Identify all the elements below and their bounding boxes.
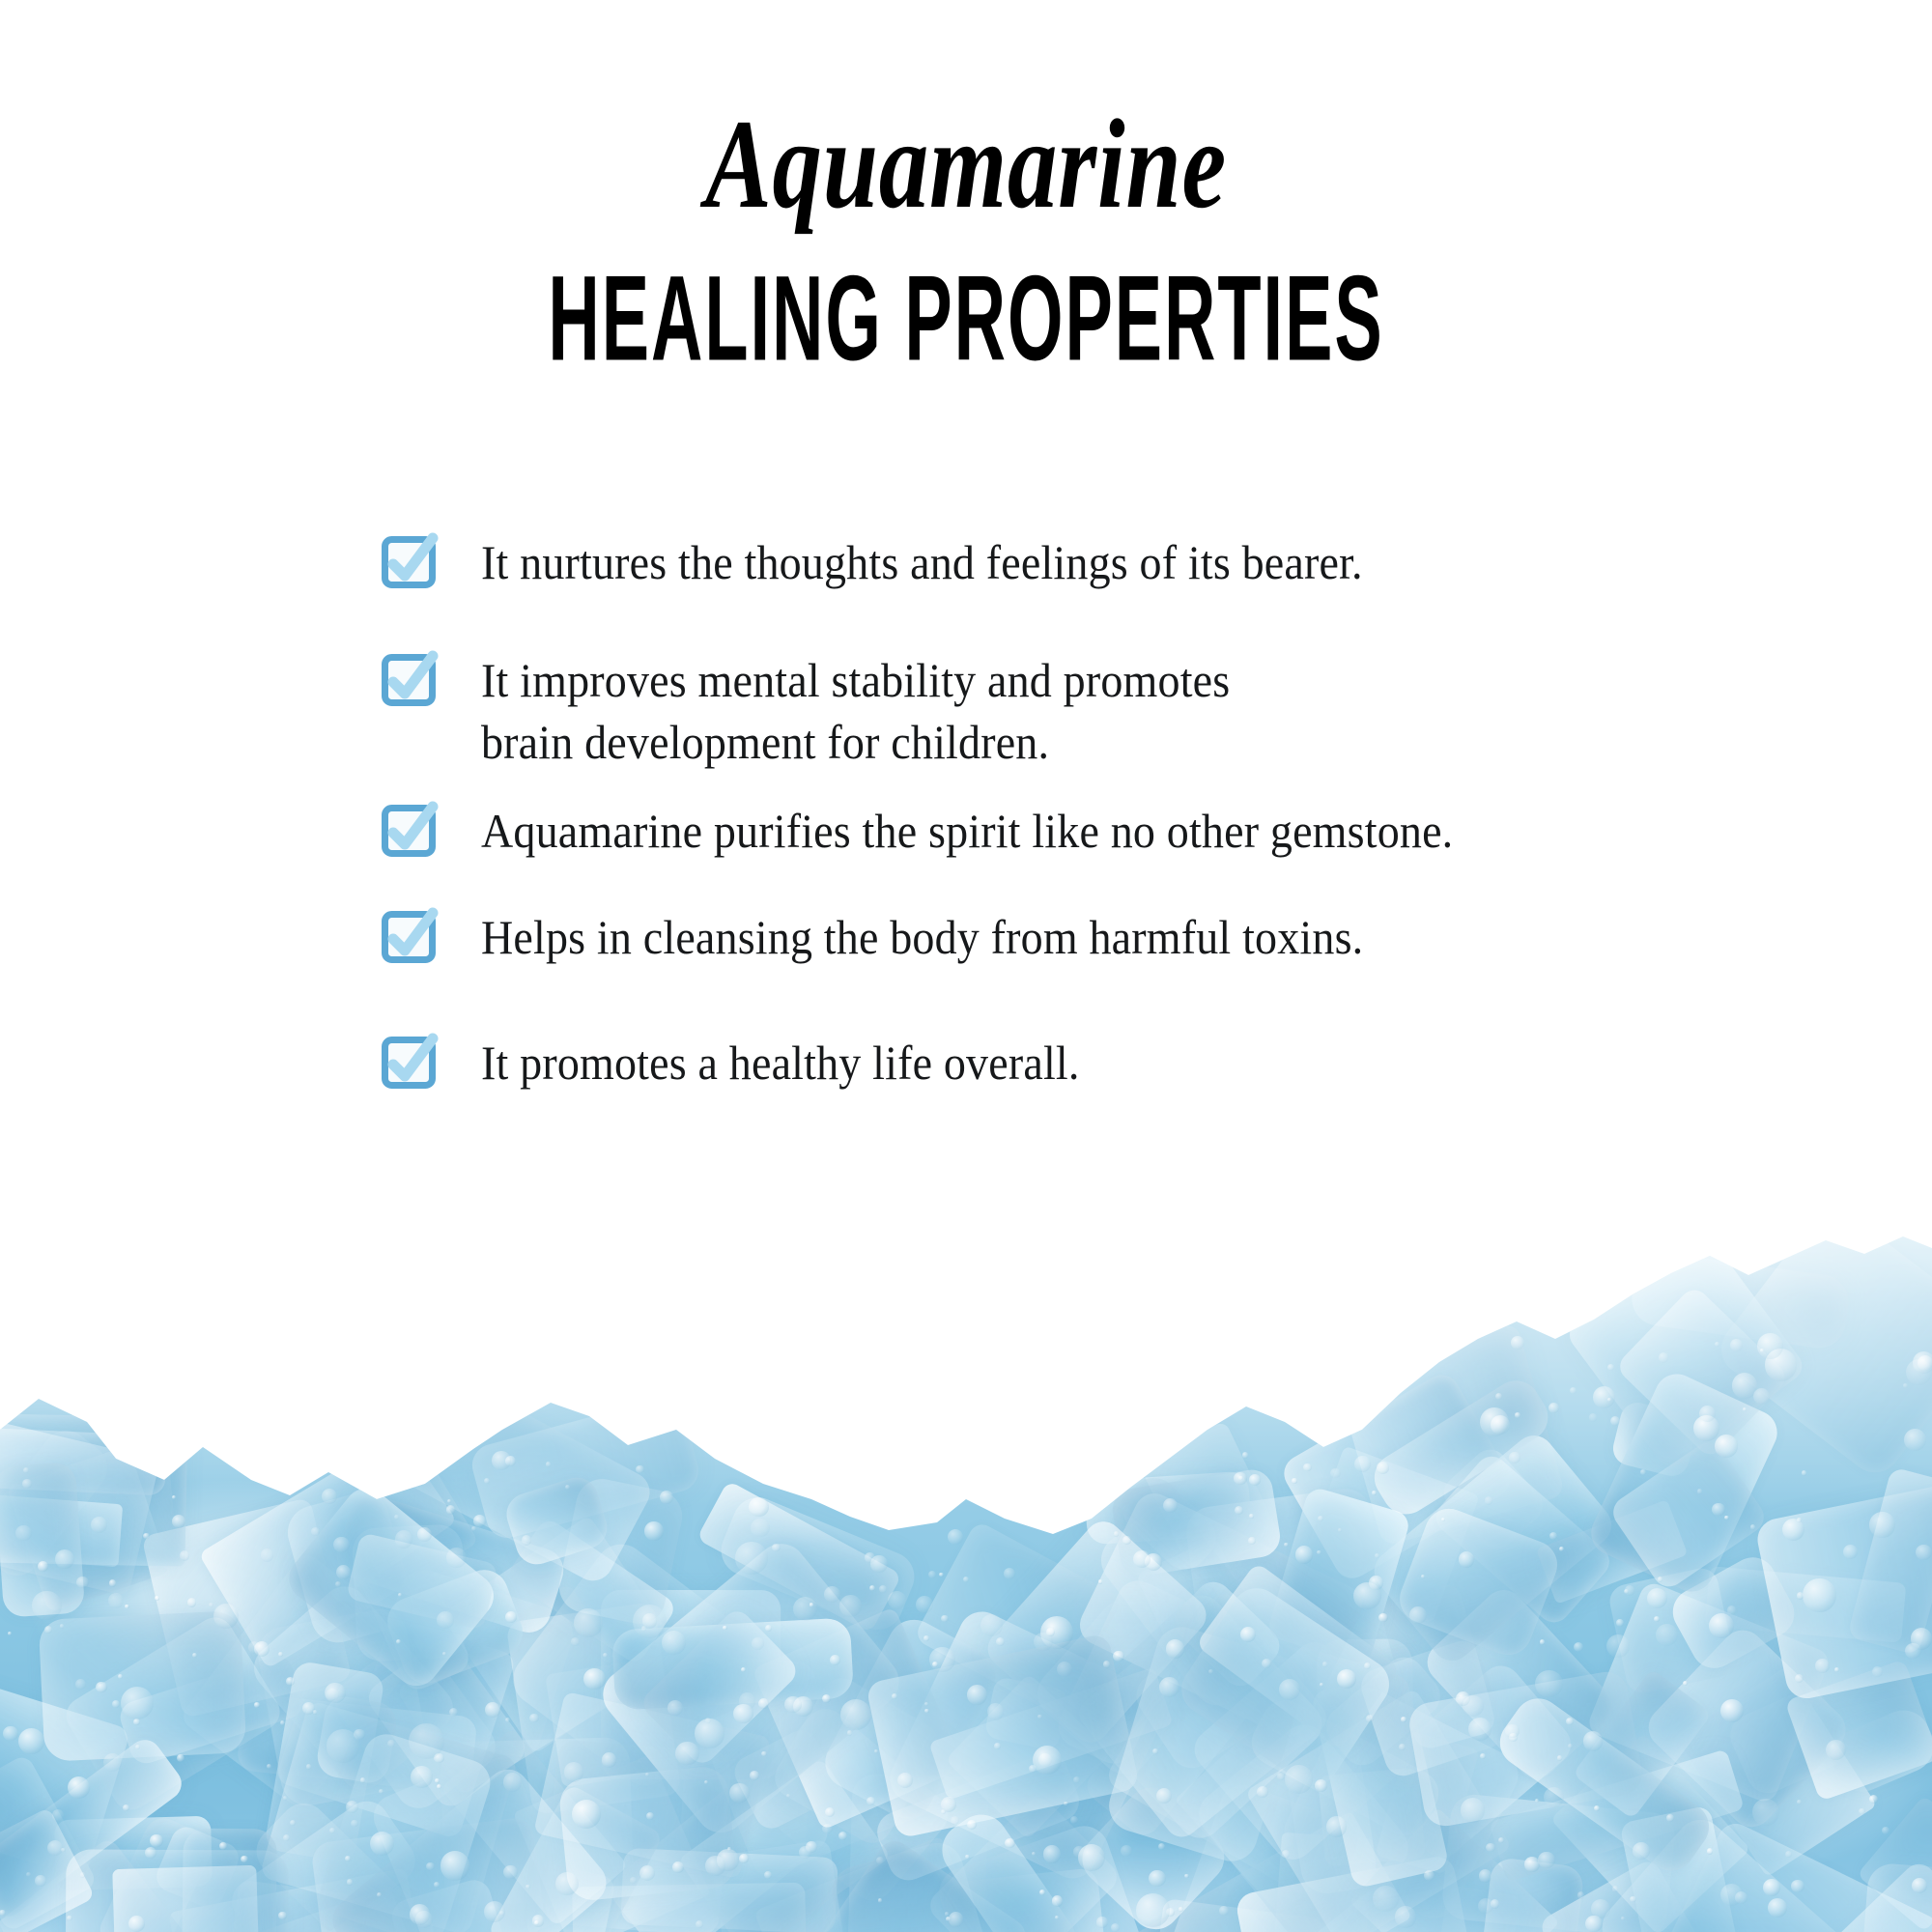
water-droplet [377, 1892, 382, 1897]
water-droplet [564, 1762, 583, 1781]
water-droplet [1364, 1662, 1371, 1669]
water-droplet [22, 1479, 32, 1489]
water-droplet [1113, 1651, 1123, 1662]
water-droplet [1720, 1699, 1744, 1722]
water-droplet [705, 1856, 725, 1876]
page-subtitle: HEALING PROPERTIES [328, 258, 1604, 379]
water-droplet [1156, 1788, 1172, 1804]
water-droplet [1743, 1407, 1747, 1411]
water-droplet [583, 1668, 606, 1690]
water-droplet [764, 1871, 772, 1879]
water-droplet [526, 1885, 530, 1889]
water-droplet [333, 1537, 350, 1553]
water-droplet [1574, 1642, 1583, 1652]
water-droplet [924, 1702, 928, 1706]
water-droplet [1640, 1469, 1646, 1475]
list-item: Helps in cleansing the body from harmful… [383, 904, 1812, 968]
water-droplet [177, 1754, 185, 1762]
water-droplet [1803, 1578, 1835, 1611]
water-droplet [1249, 1474, 1261, 1486]
water-droplet [1103, 1661, 1111, 1668]
water-droplet [213, 1604, 239, 1629]
water-droplet [571, 1637, 580, 1646]
water-droplet [1869, 1512, 1894, 1537]
water-droplet [1912, 1878, 1927, 1893]
water-droplet [1515, 1412, 1520, 1418]
water-droplet [55, 1549, 75, 1570]
water-droplet [1163, 1498, 1178, 1513]
water-droplet [916, 1596, 933, 1613]
water-droplet [733, 1704, 753, 1723]
water-droplet [1409, 1606, 1427, 1624]
water-droplet [1715, 1435, 1738, 1458]
water-droplet [695, 1719, 724, 1747]
water-droplet [1538, 1852, 1555, 1869]
water-droplet [840, 1699, 871, 1730]
water-droplet [1480, 1407, 1509, 1436]
water-droplet [522, 1535, 531, 1545]
water-droplet [145, 1847, 156, 1859]
water-droplet [1248, 1537, 1256, 1545]
water-droplet [1797, 1518, 1801, 1521]
water-droplet [967, 1820, 977, 1830]
water-droplet [1557, 1755, 1562, 1760]
water-droplet [346, 1801, 358, 1813]
water-droplet [1610, 1416, 1620, 1426]
water-droplet [322, 1489, 337, 1504]
water-droplet [1511, 1336, 1524, 1350]
water-droplet [437, 1784, 441, 1789]
water-droplet [761, 1751, 767, 1757]
water-droplet [1046, 1628, 1055, 1636]
water-droplet [1658, 1577, 1663, 1582]
water-droplet [1548, 1403, 1559, 1413]
water-droplet [484, 1901, 505, 1922]
water-droplet [1152, 1748, 1158, 1754]
water-droplet [1262, 1659, 1271, 1668]
water-droplet [758, 1698, 769, 1709]
water-droplet [1904, 1429, 1926, 1451]
water-droplet [1292, 1478, 1296, 1483]
water-droplet [1166, 1639, 1185, 1659]
water-droplet [1593, 1386, 1615, 1408]
water-droplet [1043, 1845, 1061, 1862]
water-droplet [639, 1865, 655, 1881]
water-droplet [602, 1752, 617, 1768]
water-droplet [529, 1714, 538, 1722]
checkbox-checked-icon [383, 910, 437, 964]
water-droplet [283, 1834, 290, 1841]
water-droplet [1872, 1666, 1883, 1677]
water-droplet [52, 1809, 64, 1821]
water-droplet [1479, 1869, 1492, 1882]
water-droplet [1524, 1857, 1540, 1872]
water-droplet [1372, 1491, 1377, 1495]
water-droplet [696, 1920, 703, 1928]
water-droplet [442, 1652, 446, 1656]
water-droplet [44, 1626, 52, 1634]
water-droplet [446, 1548, 466, 1567]
water-droplet [1715, 1342, 1719, 1347]
water-droplet [932, 1662, 938, 1667]
water-droplet [1540, 1639, 1545, 1644]
water-droplet [888, 1591, 906, 1609]
water-droplet [133, 1719, 140, 1725]
water-droplet [1697, 1489, 1703, 1494]
water-droplet [923, 1635, 929, 1641]
water-droplet [1869, 1795, 1878, 1804]
water-droplet [1424, 1870, 1435, 1882]
water-droplet [869, 1585, 875, 1591]
ice-bubble-layer [0, 1140, 1932, 1932]
list-item: Aquamarine purifies the spirit like no o… [383, 798, 1812, 862]
water-droplet [1834, 1667, 1839, 1672]
water-droplet [135, 1745, 140, 1749]
water-droplet [254, 1702, 260, 1708]
water-droplet [739, 1854, 749, 1863]
water-droplet [1354, 1456, 1371, 1472]
water-droplet [1826, 1740, 1846, 1760]
poster-canvas: Aquamarine HEALING PROPERTIES It nurture… [0, 0, 1932, 1932]
water-droplet [572, 1800, 601, 1829]
water-droplet [1249, 1514, 1254, 1519]
water-droplet [1055, 1916, 1060, 1920]
water-droplet [949, 1912, 963, 1926]
water-droplet [18, 1728, 44, 1754]
water-droplet [565, 1485, 570, 1490]
water-droplet [1295, 1546, 1313, 1563]
water-droplet [1625, 1585, 1634, 1595]
water-droplet [879, 1585, 887, 1593]
water-droplet [646, 1812, 654, 1820]
water-droplet [283, 1796, 287, 1800]
water-droplet [267, 1764, 271, 1769]
water-droplet [980, 1614, 1003, 1636]
water-droplet [830, 1655, 840, 1665]
water-droplet [1317, 1550, 1321, 1555]
water-droplet [484, 1478, 490, 1484]
water-droplet [1757, 1333, 1783, 1359]
water-droplet [1303, 1463, 1311, 1471]
poster-header: Aquamarine HEALING PROPERTIES [0, 0, 1932, 373]
water-droplet [838, 1832, 847, 1840]
water-droplet [645, 1773, 649, 1776]
water-droplet [1843, 1545, 1858, 1559]
water-droplet [1219, 1906, 1229, 1916]
water-droplet [1606, 1634, 1630, 1658]
water-droplet [1791, 1880, 1804, 1893]
water-droplet [219, 1842, 228, 1851]
water-droplet [1568, 1744, 1573, 1748]
water-droplet [1184, 1874, 1188, 1878]
water-droplet [35, 1875, 46, 1887]
water-droplet [435, 1778, 440, 1783]
water-droplet [1373, 1886, 1399, 1912]
water-droplet [172, 1515, 185, 1528]
list-item-label: Helps in cleansing the body from harmful… [481, 904, 1363, 968]
water-droplet [192, 1653, 197, 1658]
water-droplet [505, 1611, 517, 1623]
water-droplet [180, 1550, 190, 1561]
water-droplet [1478, 1898, 1493, 1914]
water-droplet [963, 1577, 970, 1583]
water-droplet [306, 1764, 311, 1769]
water-droplet [1903, 1383, 1908, 1388]
water-droplet [1257, 1786, 1268, 1798]
water-droplet [26, 1872, 31, 1877]
water-droplet [1585, 1916, 1602, 1932]
water-droplet [749, 1497, 769, 1518]
water-droplet [325, 1683, 346, 1704]
water-droplet [125, 1605, 128, 1608]
water-droplet [847, 1730, 852, 1735]
water-droplet [1285, 1765, 1314, 1794]
water-droplet [1498, 1837, 1504, 1843]
water-droplet [1768, 1898, 1787, 1918]
water-droplet [1136, 1893, 1170, 1927]
water-droplet [929, 1647, 955, 1673]
water-droplet [876, 1857, 884, 1864]
water-droplet [1589, 1413, 1598, 1422]
water-droplet [396, 1639, 401, 1644]
water-droplet [1535, 1799, 1539, 1803]
water-droplet [60, 1624, 64, 1628]
water-droplet [1242, 1452, 1248, 1458]
water-droplet [80, 1872, 85, 1877]
water-droplet [91, 1517, 108, 1534]
water-droplet [1375, 1553, 1379, 1558]
water-droplet [379, 1789, 384, 1794]
water-droplet [1234, 1472, 1246, 1485]
water-droplet [187, 1598, 197, 1607]
water-droplet [1399, 1744, 1406, 1750]
water-droplet [878, 1898, 882, 1902]
water-droplet [1322, 1662, 1327, 1666]
water-droplet [1149, 1870, 1165, 1887]
water-droplet [387, 1740, 395, 1747]
list-item-label: It improves mental stability and promote… [481, 647, 1230, 773]
water-droplet [1607, 1364, 1614, 1371]
list-item-label: It promotes a healthy life overall. [481, 1030, 1080, 1094]
water-droplet [1802, 1470, 1806, 1475]
water-droplet [1441, 1518, 1445, 1521]
water-droplet [996, 1637, 1005, 1646]
water-droplet [1621, 1917, 1625, 1920]
water-droplet [395, 1530, 412, 1548]
water-droplet [15, 1525, 31, 1541]
water-droplet [994, 1743, 1000, 1748]
water-droplet [1505, 1724, 1519, 1738]
water-droplet [839, 1595, 862, 1617]
water-droplet [1284, 1543, 1289, 1548]
water-droplet [1326, 1816, 1348, 1837]
water-droplet [1707, 1848, 1714, 1855]
water-droplet [727, 1847, 731, 1851]
water-droplet [1815, 1659, 1830, 1673]
water-droplet [1039, 1889, 1045, 1895]
water-droplet [123, 1804, 129, 1811]
water-droplet [68, 1776, 90, 1799]
water-droplet [1583, 1731, 1603, 1750]
water-droplet [109, 1579, 116, 1586]
water-droplet [822, 1694, 832, 1704]
water-droplet [967, 1685, 987, 1705]
water-droplet [924, 1709, 928, 1713]
water-droplet [1338, 1528, 1342, 1532]
water-droplet [668, 1700, 683, 1716]
list-item: It nurtures the thoughts and feelings of… [383, 529, 1812, 593]
water-droplet [1330, 1468, 1340, 1478]
water-droplet [644, 1521, 664, 1541]
water-droplet [278, 1912, 287, 1920]
water-droplet [1616, 1619, 1624, 1627]
water-droplet [705, 1718, 711, 1723]
water-droplet [825, 1807, 835, 1817]
water-droplet [485, 1702, 500, 1718]
checkbox-checked-icon [383, 804, 437, 858]
water-droplet [1052, 1895, 1063, 1906]
water-droplet [492, 1451, 511, 1470]
water-droplet [1159, 1677, 1179, 1697]
water-droplet [1683, 1681, 1688, 1686]
water-droplet [752, 1637, 763, 1649]
water-droplet [1004, 1568, 1015, 1579]
water-droplet [345, 1856, 351, 1861]
water-droplet [8, 1632, 12, 1635]
water-droplet [1735, 1891, 1747, 1904]
water-droplet [503, 1773, 523, 1792]
water-droplet [751, 1519, 769, 1537]
water-droplet [398, 1593, 402, 1597]
water-droplet [941, 1615, 948, 1622]
water-droplet [1073, 1776, 1081, 1784]
water-droplet [103, 1753, 122, 1772]
water-droplet [128, 1916, 145, 1932]
water-droplet [1577, 1891, 1585, 1899]
water-droplet [928, 1571, 936, 1578]
water-droplet [824, 1586, 840, 1603]
water-droplet [3, 1726, 17, 1741]
water-droplet [1033, 1746, 1062, 1775]
water-droplet [660, 1491, 673, 1504]
water-droplet [630, 1877, 636, 1883]
water-droplet [662, 1631, 686, 1655]
water-droplet [1566, 1718, 1574, 1725]
water-droplet [1279, 1679, 1300, 1700]
water-droplet [471, 1526, 476, 1531]
water-droplet [948, 1529, 963, 1545]
water-droplet [1913, 1351, 1932, 1374]
water-droplet [505, 1718, 510, 1722]
water-droplet [112, 1700, 120, 1708]
water-droplet [1353, 1582, 1381, 1610]
water-droplet [155, 1596, 158, 1600]
water-droplet [765, 1625, 772, 1632]
water-droplet [1699, 1406, 1716, 1422]
ice-cubes-photo [0, 1140, 1932, 1932]
water-droplet [1057, 1662, 1072, 1677]
water-droplet [945, 1912, 950, 1917]
water-droplet [1096, 1917, 1107, 1927]
water-droplet [867, 1797, 875, 1805]
water-droplet [799, 1846, 811, 1859]
water-droplet [1709, 1613, 1734, 1638]
water-droplet [1911, 1628, 1932, 1649]
water-droplet [1282, 1850, 1291, 1859]
water-droplet [1421, 1575, 1425, 1578]
water-droplet [1559, 1547, 1564, 1551]
water-droplet [1727, 1605, 1737, 1615]
water-droplet [76, 1577, 89, 1589]
water-droplet [1724, 1516, 1728, 1520]
water-droplet [1486, 1843, 1494, 1852]
water-droplet [1468, 1718, 1492, 1741]
water-droplet [1656, 1624, 1679, 1647]
water-droplet [1064, 1802, 1068, 1806]
water-droplet [434, 1882, 440, 1888]
water-droplet [1037, 1715, 1042, 1719]
water-droplet [1570, 1387, 1577, 1394]
water-droplet [108, 1593, 124, 1608]
list-item: It promotes a healthy life overall. [383, 1030, 1812, 1094]
water-droplet [1377, 1462, 1389, 1474]
water-droplet [96, 1682, 106, 1692]
water-droplet [1797, 1800, 1802, 1804]
water-droplet [1318, 1516, 1323, 1521]
water-droplet [1750, 1524, 1756, 1530]
water-droplet [1179, 1907, 1182, 1911]
list-item: It improves mental stability and promote… [383, 647, 1812, 773]
water-droplet [729, 1783, 749, 1803]
water-droplet [447, 1499, 451, 1503]
water-droplet [1337, 1669, 1356, 1689]
water-droplet [1535, 1670, 1563, 1698]
water-droplet [939, 1573, 944, 1577]
water-droplet [1463, 1695, 1484, 1717]
water-droplet [793, 1597, 817, 1621]
water-droplet [67, 1916, 72, 1921]
water-droplet [1509, 1452, 1520, 1463]
water-droplet [1133, 1550, 1151, 1568]
water-droplet [415, 1911, 433, 1928]
water-droplet [987, 1703, 1004, 1719]
water-droplet [1235, 1506, 1243, 1515]
water-droplet [946, 1917, 951, 1921]
water-droplet [870, 1555, 888, 1573]
checkbox-checked-icon [383, 653, 437, 707]
water-droplet [440, 1851, 470, 1881]
water-droplet [1320, 1683, 1323, 1687]
water-droplet [1763, 1879, 1780, 1896]
water-droplet [1612, 1886, 1618, 1891]
water-droplet [574, 1608, 603, 1637]
water-droplet [1485, 1496, 1492, 1504]
water-droplet [546, 1462, 552, 1467]
water-droplet [704, 1780, 708, 1784]
water-droplet [417, 1527, 432, 1542]
water-droplet [822, 1824, 833, 1834]
water-droplet [354, 1729, 364, 1740]
water-droplet [143, 1533, 149, 1539]
water-droplet [286, 1677, 295, 1686]
water-droplet [0, 1910, 6, 1916]
water-droplet [675, 1742, 699, 1766]
water-droplet [335, 1581, 341, 1587]
water-droplet [38, 1561, 48, 1572]
water-droplet [1395, 1906, 1416, 1927]
water-droplet [1078, 1844, 1105, 1871]
water-droplet [394, 1515, 399, 1520]
